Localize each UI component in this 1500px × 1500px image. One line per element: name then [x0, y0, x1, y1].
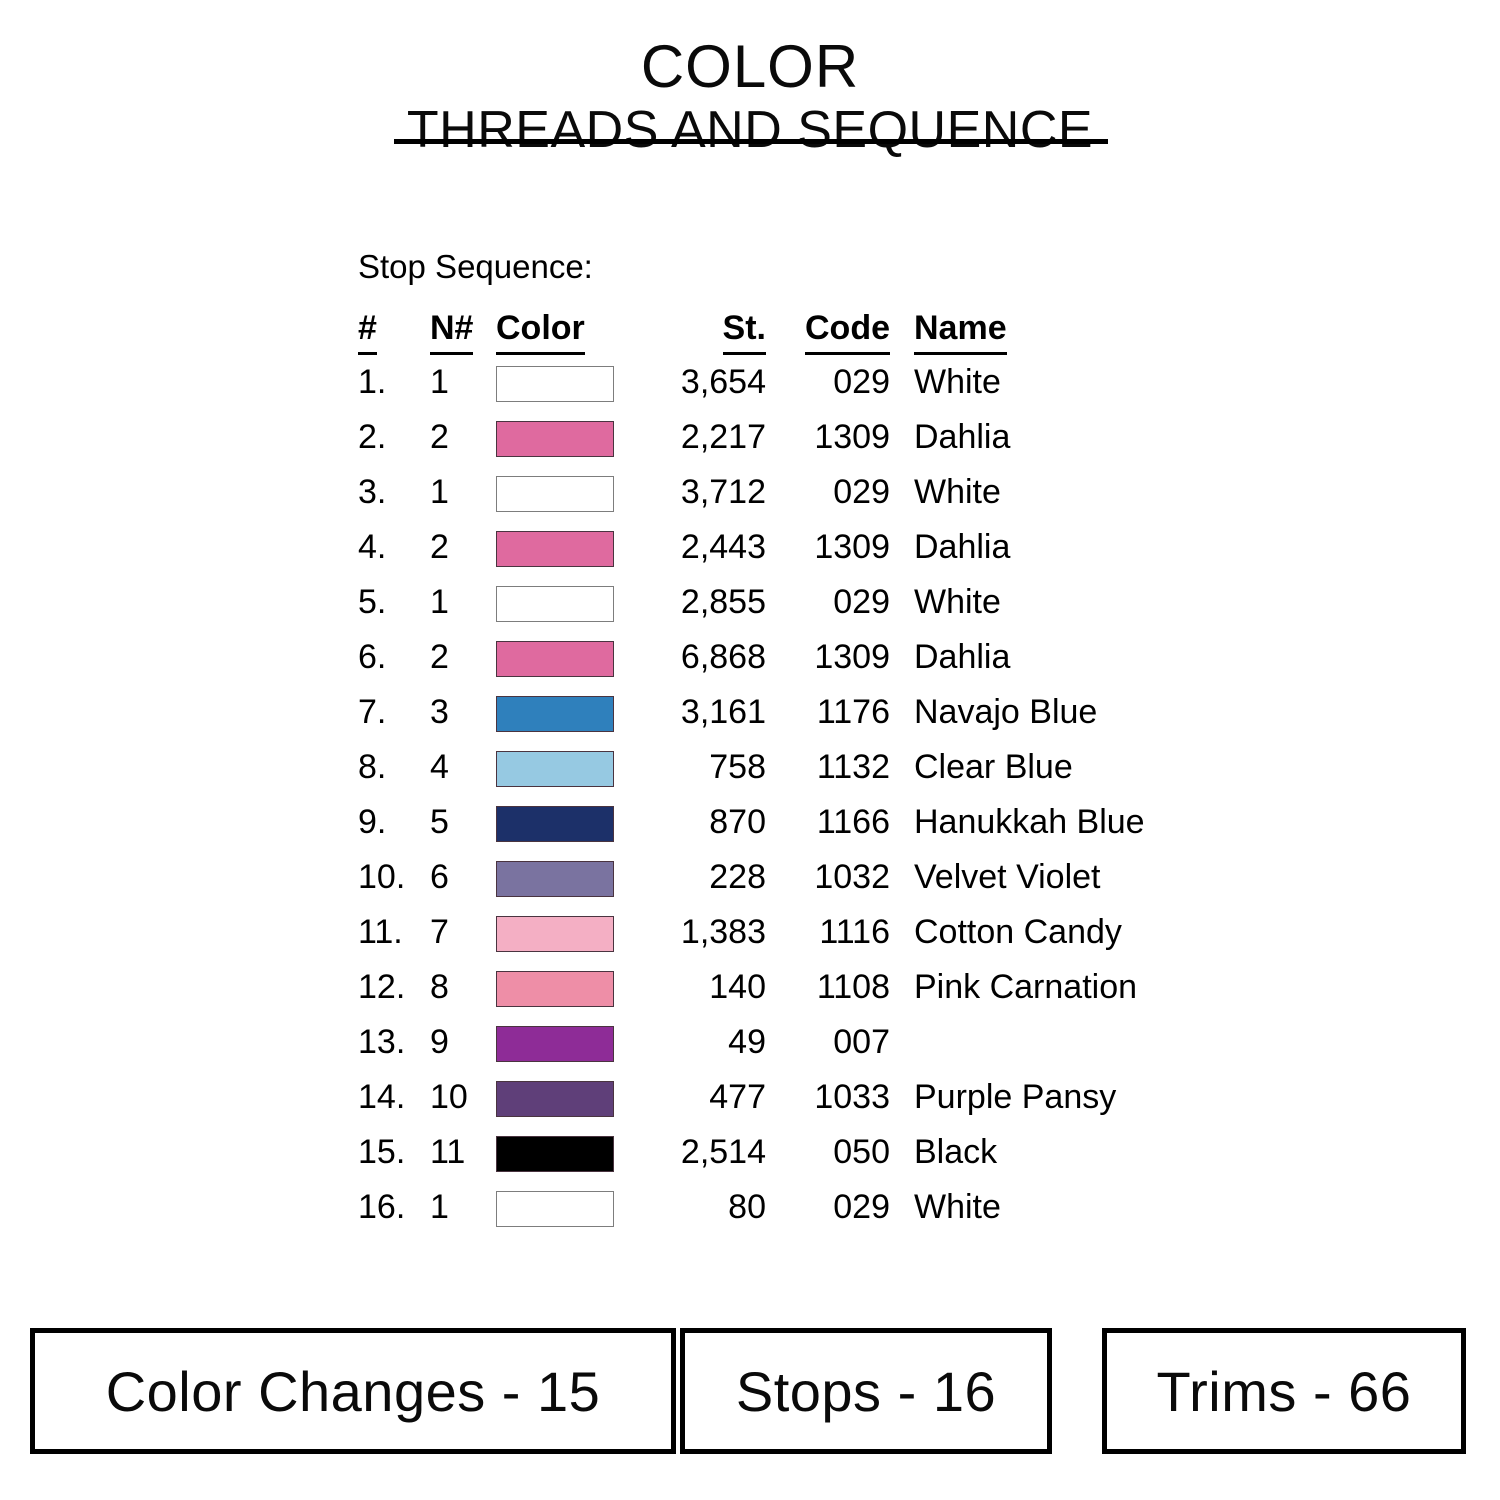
row-stitch-count: 3,161: [640, 685, 768, 740]
table-row: 13.949007: [358, 1015, 1224, 1070]
color-swatch: [496, 806, 614, 842]
row-thread-code: 1108: [768, 960, 892, 1015]
row-thread-name: Dahlia: [892, 410, 1224, 465]
row-color-cell: [496, 630, 640, 685]
row-index: 3.: [358, 465, 430, 520]
row-needle-number: 9: [430, 1015, 496, 1070]
row-color-cell: [496, 410, 640, 465]
row-stitch-count: 2,443: [640, 520, 768, 575]
page-subtitle: THREADS AND SEQUENCE: [0, 101, 1500, 159]
row-index: 8.: [358, 740, 430, 795]
row-index: 9.: [358, 795, 430, 850]
header-color: Color: [496, 305, 640, 355]
row-color-cell: [496, 1180, 640, 1235]
color-swatch: [496, 586, 614, 622]
row-needle-number: 4: [430, 740, 496, 795]
color-swatch: [496, 421, 614, 457]
row-thread-code: 1176: [768, 685, 892, 740]
color-swatch: [496, 751, 614, 787]
header-stitches: St.: [640, 305, 768, 355]
color-swatch: [496, 916, 614, 952]
table-row: 3.13,712029White: [358, 465, 1224, 520]
color-swatch: [496, 1026, 614, 1062]
row-stitch-count: 870: [640, 795, 768, 850]
row-stitch-count: 2,217: [640, 410, 768, 465]
row-color-cell: [496, 850, 640, 905]
row-stitch-count: 3,712: [640, 465, 768, 520]
row-thread-name: White: [892, 575, 1224, 630]
stop-sequence-label: Stop Sequence:: [358, 250, 1198, 305]
row-needle-number: 2: [430, 520, 496, 575]
table-row: 15.112,514050Black: [358, 1125, 1224, 1180]
row-thread-name: White: [892, 1180, 1224, 1235]
table-header-row: # N# Color St. Code Name: [358, 305, 1224, 355]
row-color-cell: [496, 795, 640, 850]
row-needle-number: 6: [430, 850, 496, 905]
stop-sequence-section: Stop Sequence: # N# Color St. Code Name …: [358, 250, 1198, 1235]
row-thread-code: 1132: [768, 740, 892, 795]
row-color-cell: [496, 685, 640, 740]
row-stitch-count: 140: [640, 960, 768, 1015]
color-swatch: [496, 641, 614, 677]
table-row: 5.12,855029White: [358, 575, 1224, 630]
row-color-cell: [496, 905, 640, 960]
row-index: 2.: [358, 410, 430, 465]
summary-boxes: Color Changes - 15 Stops - 16 Trims - 66: [0, 1328, 1500, 1458]
row-index: 12.: [358, 960, 430, 1015]
row-thread-code: 050: [768, 1125, 892, 1180]
row-index: 5.: [358, 575, 430, 630]
row-thread-code: 029: [768, 355, 892, 410]
row-index: 16.: [358, 1180, 430, 1235]
table-row: 2.22,2171309Dahlia: [358, 410, 1224, 465]
row-color-cell: [496, 960, 640, 1015]
row-stitch-count: 477: [640, 1070, 768, 1125]
row-index: 14.: [358, 1070, 430, 1125]
row-index: 7.: [358, 685, 430, 740]
row-needle-number: 1: [430, 1180, 496, 1235]
table-row: 7.33,1611176Navajo Blue: [358, 685, 1224, 740]
row-thread-name: White: [892, 355, 1224, 410]
row-thread-code: 1033: [768, 1070, 892, 1125]
color-swatch: [496, 1081, 614, 1117]
row-stitch-count: 49: [640, 1015, 768, 1070]
row-thread-name: [892, 1015, 1224, 1070]
color-swatch: [496, 531, 614, 567]
header-name: Name: [892, 305, 1224, 355]
row-index: 1.: [358, 355, 430, 410]
table-row: 11.71,3831116Cotton Candy: [358, 905, 1224, 960]
row-thread-code: 1309: [768, 630, 892, 685]
row-thread-name: Dahlia: [892, 630, 1224, 685]
row-color-cell: [496, 1015, 640, 1070]
row-thread-name: Dahlia: [892, 520, 1224, 575]
color-swatch: [496, 861, 614, 897]
row-stitch-count: 2,514: [640, 1125, 768, 1180]
row-stitch-count: 2,855: [640, 575, 768, 630]
color-swatch: [496, 1191, 614, 1227]
row-thread-name: Hanukkah Blue: [892, 795, 1224, 850]
row-stitch-count: 6,868: [640, 630, 768, 685]
table-row: 6.26,8681309Dahlia: [358, 630, 1224, 685]
trims-label: Trims - 66: [1157, 1359, 1412, 1424]
row-thread-name: Cotton Candy: [892, 905, 1224, 960]
table-body: 1.13,654029White2.22,2171309Dahlia3.13,7…: [358, 355, 1224, 1235]
row-stitch-count: 758: [640, 740, 768, 795]
row-color-cell: [496, 465, 640, 520]
row-color-cell: [496, 575, 640, 630]
row-needle-number: 8: [430, 960, 496, 1015]
header-index: #: [358, 305, 430, 355]
row-needle-number: 5: [430, 795, 496, 850]
row-index: 13.: [358, 1015, 430, 1070]
trims-box: Trims - 66: [1102, 1328, 1466, 1454]
row-index: 10.: [358, 850, 430, 905]
table-row: 1.13,654029White: [358, 355, 1224, 410]
header-code: Code: [768, 305, 892, 355]
row-thread-name: Velvet Violet: [892, 850, 1224, 905]
row-needle-number: 3: [430, 685, 496, 740]
row-thread-name: Purple Pansy: [892, 1070, 1224, 1125]
color-changes-label: Color Changes - 15: [106, 1359, 601, 1424]
row-stitch-count: 3,654: [640, 355, 768, 410]
row-index: 4.: [358, 520, 430, 575]
table-row: 14.104771033Purple Pansy: [358, 1070, 1224, 1125]
row-thread-name: White: [892, 465, 1224, 520]
row-needle-number: 2: [430, 410, 496, 465]
row-thread-code: 007: [768, 1015, 892, 1070]
row-needle-number: 7: [430, 905, 496, 960]
row-stitch-count: 1,383: [640, 905, 768, 960]
row-thread-name: Black: [892, 1125, 1224, 1180]
row-thread-code: 029: [768, 575, 892, 630]
row-index: 6.: [358, 630, 430, 685]
row-needle-number: 1: [430, 355, 496, 410]
row-thread-code: 1309: [768, 410, 892, 465]
row-thread-code: 1032: [768, 850, 892, 905]
row-needle-number: 1: [430, 465, 496, 520]
page-title: COLOR: [0, 36, 1500, 97]
row-color-cell: [496, 520, 640, 575]
row-needle-number: 11: [430, 1125, 496, 1180]
title-divider: [394, 139, 1108, 144]
row-index: 15.: [358, 1125, 430, 1180]
header-needle: N#: [430, 305, 496, 355]
row-thread-name: Clear Blue: [892, 740, 1224, 795]
row-needle-number: 10: [430, 1070, 496, 1125]
row-index: 11.: [358, 905, 430, 960]
table-row: 9.58701166Hanukkah Blue: [358, 795, 1224, 850]
row-needle-number: 2: [430, 630, 496, 685]
row-stitch-count: 228: [640, 850, 768, 905]
row-color-cell: [496, 1125, 640, 1180]
row-thread-code: 029: [768, 465, 892, 520]
row-thread-code: 029: [768, 1180, 892, 1235]
row-needle-number: 1: [430, 575, 496, 630]
table-row: 12.81401108Pink Carnation: [358, 960, 1224, 1015]
color-swatch: [496, 366, 614, 402]
row-color-cell: [496, 1070, 640, 1125]
color-swatch: [496, 696, 614, 732]
color-swatch: [496, 971, 614, 1007]
row-stitch-count: 80: [640, 1180, 768, 1235]
stops-box: Stops - 16: [680, 1328, 1052, 1454]
stops-label: Stops - 16: [736, 1359, 996, 1424]
row-color-cell: [496, 355, 640, 410]
row-thread-code: 1166: [768, 795, 892, 850]
color-changes-box: Color Changes - 15: [30, 1328, 676, 1454]
table-row: 16.180029White: [358, 1180, 1224, 1235]
table-row: 8.47581132Clear Blue: [358, 740, 1224, 795]
color-swatch: [496, 476, 614, 512]
thread-sequence-table: # N# Color St. Code Name 1.13,654029Whit…: [358, 305, 1224, 1235]
row-thread-code: 1116: [768, 905, 892, 960]
row-thread-name: Navajo Blue: [892, 685, 1224, 740]
row-thread-code: 1309: [768, 520, 892, 575]
table-row: 10.62281032Velvet Violet: [358, 850, 1224, 905]
color-swatch: [496, 1136, 614, 1172]
row-color-cell: [496, 740, 640, 795]
table-row: 4.22,4431309Dahlia: [358, 520, 1224, 575]
row-thread-name: Pink Carnation: [892, 960, 1224, 1015]
